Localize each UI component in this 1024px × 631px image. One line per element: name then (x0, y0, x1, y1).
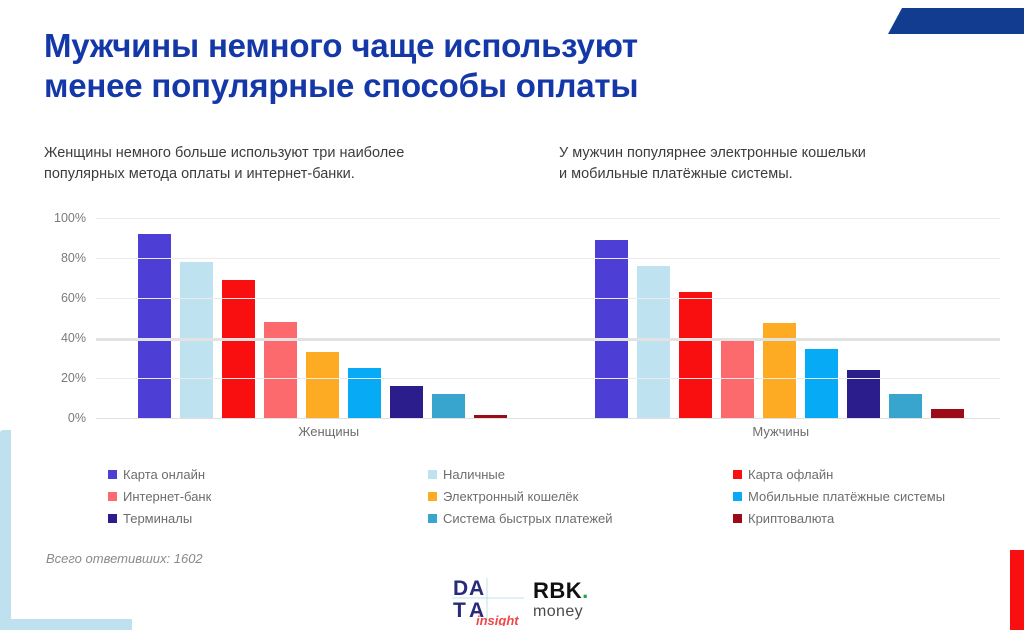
legend-item[interactable]: Интернет-банк (108, 489, 428, 504)
legend-item[interactable]: Карта офлайн (733, 467, 988, 482)
chart-legend: Карта онлайнНаличныеКарта офлайнИнтернет… (108, 463, 988, 529)
bar[interactable] (931, 409, 964, 418)
subtitle-left-line-1: Женщины немного больше используют три на… (44, 143, 559, 164)
bar[interactable] (390, 386, 423, 418)
legend-item[interactable]: Наличные (428, 467, 733, 482)
legend-item[interactable]: Терминалы (108, 511, 428, 526)
bar-slot (176, 218, 218, 418)
legend-swatch-icon (428, 470, 437, 479)
bar[interactable] (637, 266, 670, 418)
legend-swatch-icon (108, 514, 117, 523)
logo-row: D A T A insight RBK. money (445, 576, 645, 626)
bar-slot (632, 218, 674, 418)
legend-item[interactable]: Карта онлайн (108, 467, 428, 482)
gridline (96, 378, 1000, 379)
bar[interactable] (889, 394, 922, 418)
y-axis-tick-label: 80% (61, 251, 86, 265)
bar-slot (470, 218, 512, 418)
rbk-money-logo: RBK. money (533, 580, 645, 624)
legend-swatch-icon (733, 514, 742, 523)
data-insight-logo-icon: D A T A insight (450, 576, 528, 626)
bottom-right-red-bar-decoration (1010, 550, 1024, 630)
x-axis-label-men: Мужчины (752, 424, 809, 439)
bar[interactable] (432, 394, 465, 418)
x-axis-labels: ЖенщиныМужчины (96, 424, 1000, 446)
legend-swatch-icon (108, 470, 117, 479)
page-title-line-2: менее популярные способы оплаты (44, 66, 804, 106)
legend-label: Карта онлайн (123, 467, 205, 482)
bottom-left-frame-decoration (0, 430, 132, 630)
bar[interactable] (805, 349, 838, 418)
svg-text:T: T (453, 599, 466, 622)
bar-slot (800, 218, 842, 418)
gridline (96, 418, 1000, 419)
data-insight-logo: D A T A insight (450, 576, 528, 626)
y-axis: 0%20%40%60%80%100% (40, 218, 92, 418)
rbk-main-text: RBK (533, 578, 582, 603)
gridline (96, 218, 1000, 219)
y-axis-tick-label: 20% (61, 371, 86, 385)
rbk-dot: . (582, 578, 589, 603)
legend-label: Наличные (443, 467, 505, 482)
bar-slot (590, 218, 632, 418)
bar-slot (674, 218, 716, 418)
rbk-money-text: money (533, 603, 645, 621)
bar-slot (260, 218, 302, 418)
legend-item[interactable]: Система быстрых платежей (428, 511, 733, 526)
bar[interactable] (138, 234, 171, 418)
top-right-banner-decoration (888, 8, 1024, 34)
bar[interactable] (348, 368, 381, 418)
total-respondents-label: Всего ответивших: 1602 (46, 551, 203, 566)
subtitle-right-line-2: и мобильные платёжные системы. (559, 164, 984, 185)
legend-swatch-icon (108, 492, 117, 501)
bar[interactable] (222, 280, 255, 418)
bar-chart: 0%20%40%60%80%100% ЖенщиныМужчины (40, 218, 1000, 443)
bar[interactable] (306, 352, 339, 418)
subtitle-left: Женщины немного больше используют три на… (44, 143, 559, 185)
legend-label: Мобильные платёжные системы (748, 489, 945, 504)
subtitle-right: У мужчин популярнее электронные кошельки… (559, 143, 984, 185)
bar-slot (926, 218, 968, 418)
bar-group-men (562, 218, 1000, 418)
legend-label: Терминалы (123, 511, 192, 526)
legend-item[interactable]: Мобильные платёжные системы (733, 489, 988, 504)
bar-slot (758, 218, 800, 418)
legend-label: Криптовалюта (748, 511, 834, 526)
gridline (96, 298, 1000, 299)
legend-swatch-icon (428, 514, 437, 523)
page-title: Мужчины немного чаще используют менее по… (44, 26, 804, 106)
bar-slot (134, 218, 176, 418)
svg-text:A: A (469, 577, 484, 600)
subtitle-left-line-2: популярных метода оплаты и интернет-банк… (44, 164, 559, 185)
y-axis-tick-label: 0% (68, 411, 86, 425)
bar-slot (386, 218, 428, 418)
legend-swatch-icon (733, 470, 742, 479)
x-axis-label-women: Женщины (298, 424, 359, 439)
legend-label: Система быстрых платежей (443, 511, 613, 526)
bar-groups (96, 218, 1000, 418)
bar-slot (884, 218, 926, 418)
rbk-wordmark: RBK. (533, 580, 645, 602)
subtitle-right-line-1: У мужчин популярнее электронные кошельки (559, 143, 984, 164)
bar-slot (716, 218, 758, 418)
bar-group-women (96, 218, 562, 418)
subtitle-block: Женщины немного больше используют три на… (44, 143, 984, 185)
bar-slot (428, 218, 470, 418)
legend-label: Карта офлайн (748, 467, 833, 482)
bar[interactable] (595, 240, 628, 418)
y-axis-tick-label: 60% (61, 291, 86, 305)
svg-text:D: D (453, 577, 468, 600)
legend-swatch-icon (733, 492, 742, 501)
legend-item[interactable]: Криптовалюта (733, 511, 988, 526)
legend-label: Электронный кошелёк (443, 489, 578, 504)
bar[interactable] (264, 322, 297, 418)
legend-swatch-icon (428, 492, 437, 501)
svg-text:insight: insight (476, 613, 519, 626)
bar-slot (302, 218, 344, 418)
legend-item[interactable]: Электронный кошелёк (428, 489, 733, 504)
y-axis-tick-label: 100% (54, 211, 86, 225)
page-title-line-1: Мужчины немного чаще используют (44, 26, 804, 66)
gridline (96, 258, 1000, 259)
bar-slot (218, 218, 260, 418)
gridline (96, 338, 1000, 341)
bar-slot (842, 218, 884, 418)
plot-area (96, 218, 1000, 418)
y-axis-tick-label: 40% (61, 331, 86, 345)
bar[interactable] (679, 292, 712, 418)
bar-slot (344, 218, 386, 418)
legend-label: Интернет-банк (123, 489, 211, 504)
